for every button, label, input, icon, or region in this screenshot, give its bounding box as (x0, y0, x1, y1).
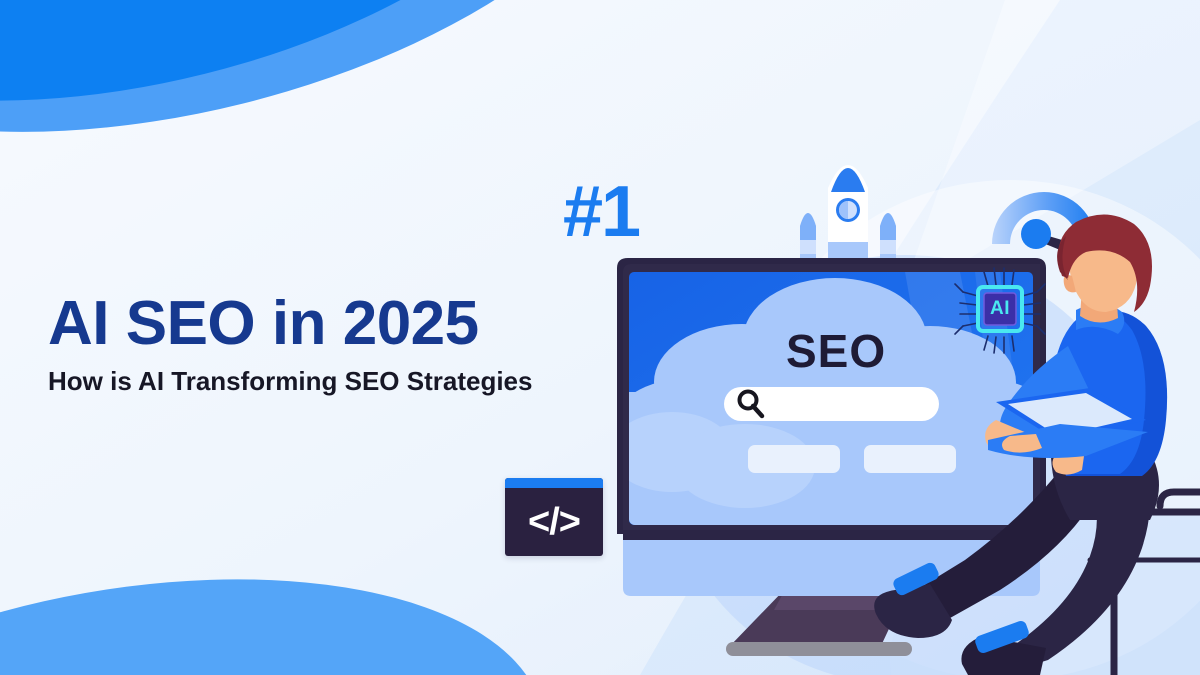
code-icon-glyph: </> (505, 488, 603, 556)
search-bar[interactable] (724, 387, 939, 421)
rank-badge: #1 (563, 176, 639, 248)
screen-seo-label: SEO (786, 324, 886, 378)
ai-chip-label: AI (983, 298, 1017, 320)
text-block: AI SEO in 2025 How is AI Transforming SE… (48, 292, 608, 397)
page-subtitle: How is AI Transforming SEO Strategies (48, 366, 608, 397)
result-button-2 (864, 445, 956, 473)
poster-canvas: AI SEO in 2025 How is AI Transforming SE… (0, 0, 1200, 675)
code-icon: </> (505, 478, 603, 556)
code-icon-titlebar (505, 478, 603, 488)
result-button-1 (748, 445, 840, 473)
page-title: AI SEO in 2025 (48, 292, 608, 356)
